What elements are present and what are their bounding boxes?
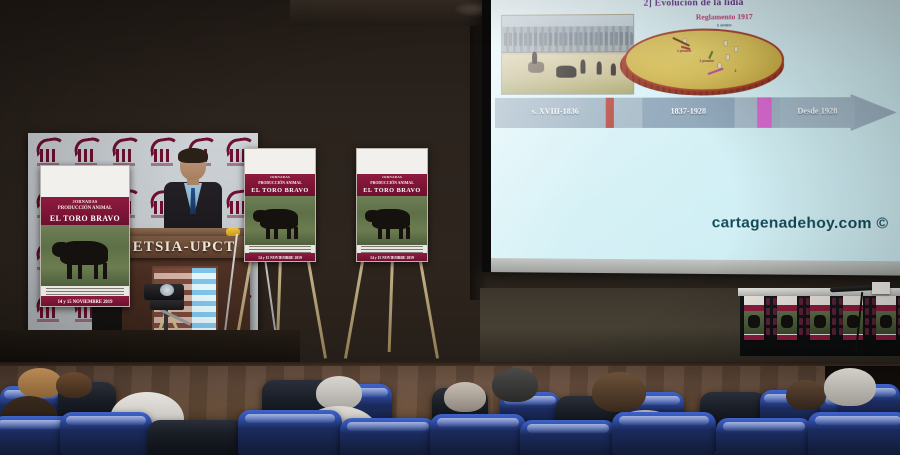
auditorium-seat <box>60 412 152 455</box>
poster-dates: 14 y 15 NOVIEMBRE 2019 <box>357 256 427 260</box>
poster-fineprint <box>46 288 123 296</box>
timeline-segments: s. XVIII-18361837-1928Desde 1928 <box>495 97 897 98</box>
video-camera <box>144 284 184 300</box>
stage-front-panel <box>0 330 300 366</box>
poster-bull-leg-1 <box>67 263 71 279</box>
timeline-segment <box>614 98 642 128</box>
auditorium-seat <box>716 418 812 455</box>
leaflet-poster <box>876 296 896 340</box>
leaflet-foot <box>810 335 830 340</box>
leaflet-photo <box>744 311 764 334</box>
poster-bull-leg-4 <box>294 227 298 240</box>
leaflet-bull-icon <box>880 315 892 328</box>
speaker-glasses <box>181 161 205 167</box>
programme-booklet <box>865 318 869 325</box>
programme-booklet <box>799 308 803 315</box>
poster-bull-photo <box>357 196 427 245</box>
poster-bull-leg-3 <box>94 263 98 279</box>
poster-fineprint <box>361 246 423 253</box>
poster-bull-leg-3 <box>287 227 291 240</box>
conference-poster: JORNADASPRODUCCIÓN ANIMALEL TORO BRAVO14… <box>244 148 316 262</box>
leaflet-photo <box>876 311 896 334</box>
poster-title: EL TORO BRAVO <box>357 187 427 194</box>
timeline-segment-label: s. XVIII-1836 <box>532 107 579 116</box>
poster-logo-strip <box>245 149 315 174</box>
slide-subtitle: Reglamento 1917 <box>642 12 807 22</box>
ring-label-1: 1 picador <box>677 49 692 53</box>
photograph-canvas: 2] Evolución de la lidia Reglamento 1917… <box>0 0 900 455</box>
ring-figure-4 <box>726 55 729 60</box>
audience-head <box>592 372 646 412</box>
auditorium-seat <box>520 420 616 455</box>
timeline-arrowhead <box>851 94 897 131</box>
upct-caption <box>37 319 59 322</box>
auditorium-seat <box>430 414 526 455</box>
programme-booklet <box>766 308 770 315</box>
programme-booklet <box>832 318 836 325</box>
poster-bull-photo <box>245 196 315 245</box>
leaflet-foot <box>876 335 896 340</box>
engraving-arches <box>502 32 633 45</box>
leaflet-poster <box>777 296 797 340</box>
poster-fineprint <box>249 246 311 253</box>
engraving-torero-2 <box>597 61 602 74</box>
camera-lens <box>160 284 174 296</box>
audience-head <box>786 380 826 410</box>
leaflet-bull-icon <box>748 315 760 328</box>
ring-label-3: 3 <box>735 69 737 73</box>
leaflet-photo <box>777 311 797 334</box>
timeline-segment <box>606 98 614 128</box>
leaflet-poster <box>744 296 764 340</box>
poster-bull-leg-4 <box>103 263 107 279</box>
programme-booklet <box>832 328 836 335</box>
programme-booklet <box>766 328 770 335</box>
upct-bars-icon <box>78 149 94 162</box>
engraving-torero-1 <box>580 60 585 74</box>
poster-bull-leg-1 <box>266 227 270 240</box>
conference-poster: JORNADASPRODUCCIÓN ANIMALEL TORO BRAVO14… <box>40 165 130 307</box>
programme-booklet <box>865 308 869 315</box>
programme-booklet <box>799 328 803 335</box>
leaflet-foot <box>843 335 863 340</box>
ring-figure-3 <box>735 47 738 52</box>
ring-figure-2 <box>724 41 727 46</box>
timeline-segment-label: 1837-1928 <box>671 107 707 116</box>
poster-line-1: JORNADAS <box>357 175 427 179</box>
poster-bull-leg-3 <box>399 227 403 240</box>
leaflet-photo <box>810 311 830 334</box>
auditorium-seat <box>238 410 342 455</box>
programme-booklet <box>865 328 869 335</box>
projection-screen: 2] Evolución de la lidia Reglamento 1917… <box>491 0 900 263</box>
slide-title: 2] Evolución de la lidia <box>491 0 900 10</box>
poster-bull-leg-4 <box>406 227 410 240</box>
poster-line-1: JORNADAS <box>41 199 129 204</box>
leaflet-poster <box>810 296 830 340</box>
conference-poster: JORNADASPRODUCCIÓN ANIMALEL TORO BRAVO14… <box>356 148 428 262</box>
poster-bull-head <box>365 210 379 222</box>
poster-title: EL TORO BRAVO <box>41 214 129 223</box>
poster-logo-strip <box>357 149 427 174</box>
audience-head <box>316 376 362 410</box>
projection-screen-frame: 2] Evolución de la lidia Reglamento 1917… <box>482 0 900 276</box>
audience-head <box>492 368 538 402</box>
engraving-picador <box>532 52 537 64</box>
programme-booklet <box>766 298 770 305</box>
upct-bars-icon <box>40 149 56 162</box>
upct-logo-icon <box>72 138 106 168</box>
audience-head <box>824 368 876 406</box>
auditorium-seat <box>340 418 436 455</box>
programme-booklet <box>832 298 836 305</box>
poster-title: EL TORO BRAVO <box>245 187 315 194</box>
poster-bull-leg-1 <box>378 227 382 240</box>
poster-logo-strip <box>41 166 129 197</box>
auditorium-seat <box>808 412 900 455</box>
ring-label-2: 2 picador <box>700 59 715 63</box>
bullring-diagram: 1 picador 2 picador 3 <box>620 24 784 100</box>
leaflet-bull-icon <box>781 315 793 328</box>
poster-bull-head <box>253 210 267 222</box>
programme-booklet <box>799 318 803 325</box>
easel-leg-center <box>388 256 394 352</box>
poster-line-2: PRODUCCIÓN ANIMAL <box>357 181 427 185</box>
leaflet-foot <box>777 335 797 340</box>
audience-head <box>56 372 92 398</box>
timeline-segment <box>735 97 758 128</box>
programme-booklet <box>865 298 869 305</box>
upct-bars-icon <box>116 149 132 162</box>
programme-booklet <box>799 298 803 305</box>
leaflet-bull-icon <box>814 315 826 328</box>
audience-head <box>444 382 486 412</box>
programme-booklet <box>766 318 770 325</box>
auditorium-seat <box>612 412 716 455</box>
upct-logo-icon <box>110 138 144 168</box>
timeline-arrow: s. XVIII-18361837-1928Desde 1928 <box>495 97 897 128</box>
poster-bull-head <box>52 242 70 257</box>
table-placard <box>872 282 890 294</box>
engraving-torero-3 <box>611 63 616 75</box>
poster-bull-leg-2 <box>274 227 278 240</box>
poster-bull-leg-2 <box>78 263 82 279</box>
poster-bull-leg-2 <box>386 227 390 240</box>
poster-line-2: PRODUCCIÓN ANIMAL <box>41 206 129 211</box>
engraving-bull <box>556 66 576 78</box>
poster-dates: 14 y 15 NOVIEMBRE 2019 <box>245 256 315 260</box>
poster-dates: 14 y 15 NOVIEMBRE 2019 <box>41 300 129 305</box>
auditorium-seat <box>148 420 244 455</box>
poster-line-1: JORNADAS <box>245 175 315 179</box>
leaflet-foot <box>744 335 764 340</box>
podium-nameplate-text: ETSIA-UPCT <box>133 239 236 256</box>
poster-bull-photo <box>41 225 129 287</box>
watermark-text: cartagenadehoy.com © <box>712 214 889 232</box>
timeline-segment-label: Desde 1928 <box>797 106 837 115</box>
timeline-segment <box>757 97 771 128</box>
easel: JORNADASPRODUCCIÓN ANIMALEL TORO BRAVO14… <box>356 148 426 360</box>
easel: JORNADASPRODUCCIÓN ANIMALEL TORO BRAVO14… <box>244 148 314 360</box>
timeline-segment <box>772 97 780 128</box>
poster-line-2: PRODUCCIÓN ANIMAL <box>245 181 315 185</box>
programme-booklet <box>832 308 836 315</box>
bullfight-engraving-image <box>501 14 634 95</box>
upct-logo-icon <box>34 138 68 168</box>
